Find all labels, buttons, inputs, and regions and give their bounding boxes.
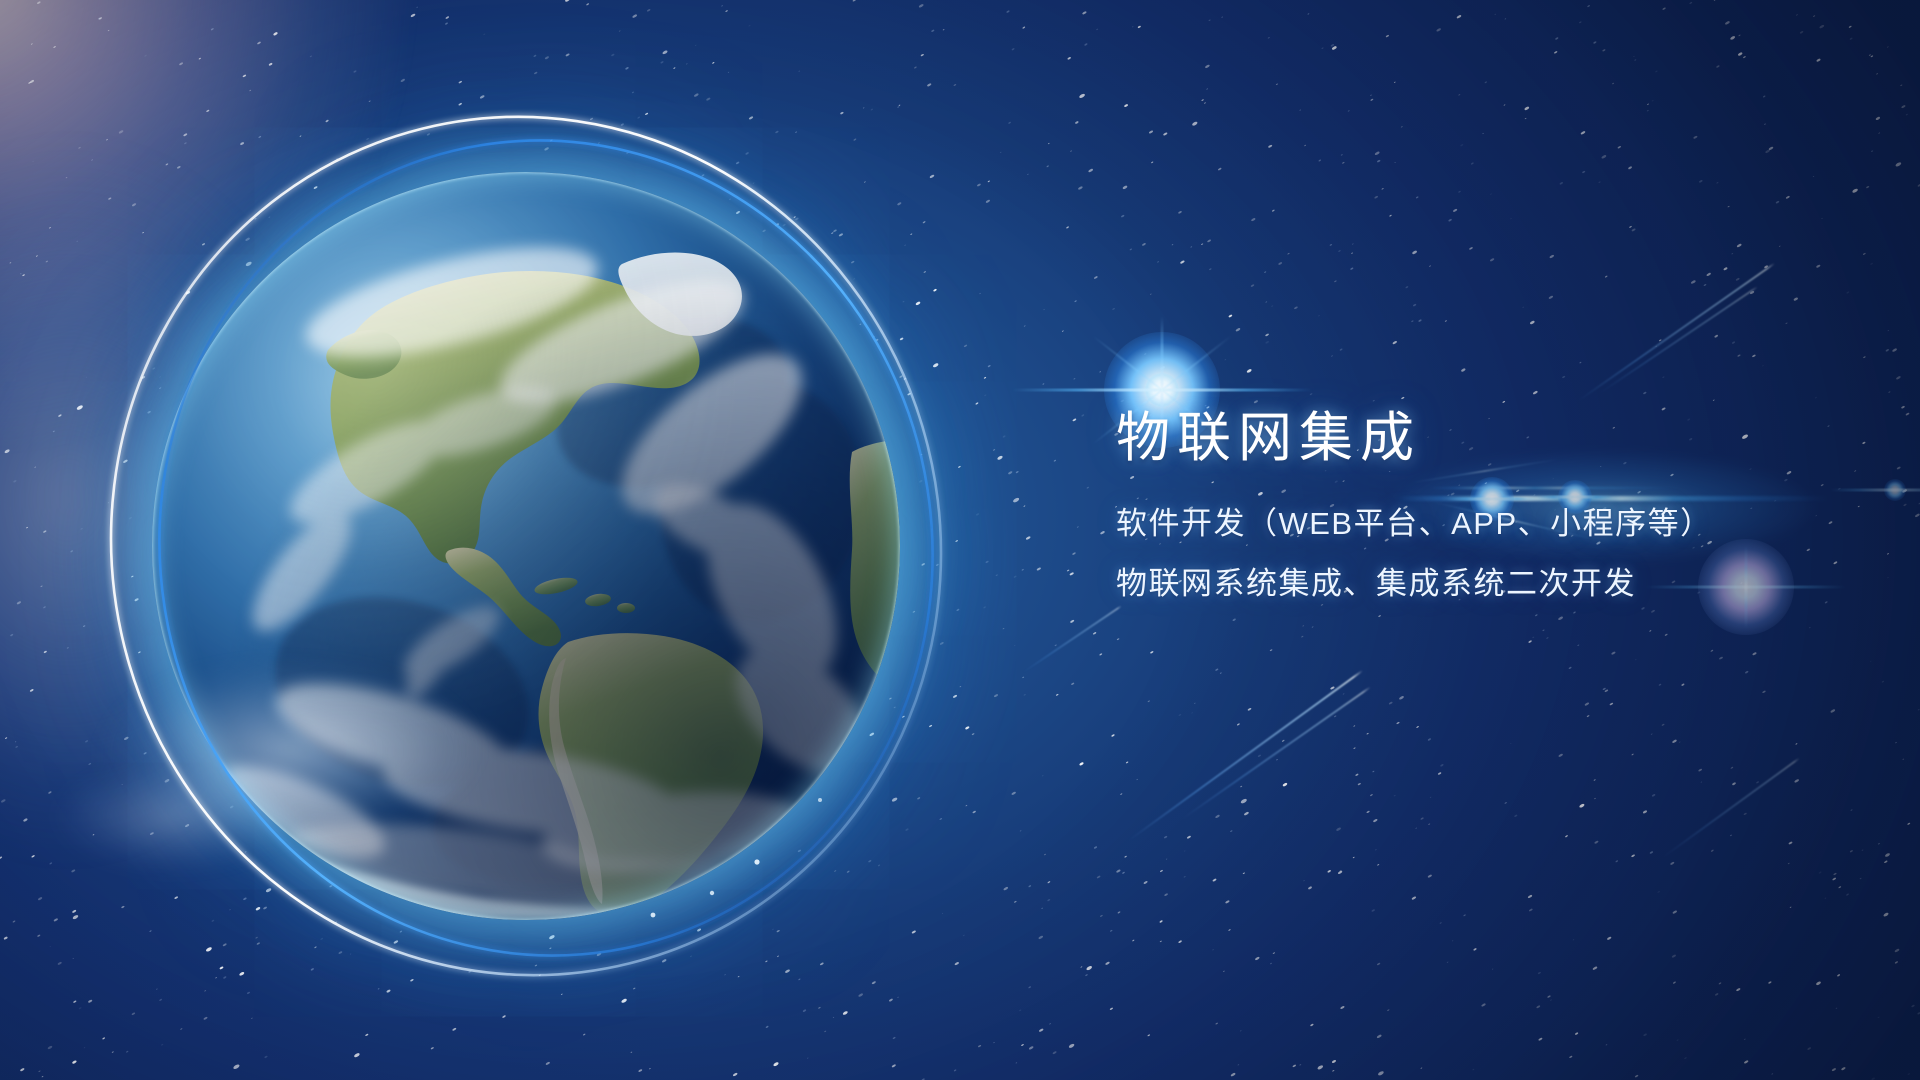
- page-title: 物联网集成: [1116, 408, 1856, 468]
- subtitle-list: 软件开发（WEB平台、APP、小程序等） 物联网系统集成、集成系统二次开发: [1116, 508, 1856, 599]
- subtitle-line-1: 软件开发（WEB平台、APP、小程序等）: [1116, 508, 1856, 539]
- hero-banner: 物联网集成 软件开发（WEB平台、APP、小程序等） 物联网系统集成、集成系统二…: [0, 0, 1920, 1080]
- subtitle-line-2: 物联网系统集成、集成系统二次开发: [1116, 568, 1856, 599]
- banner-content: 物联网集成 软件开发（WEB平台、APP、小程序等） 物联网系统集成、集成系统二…: [1116, 408, 1856, 599]
